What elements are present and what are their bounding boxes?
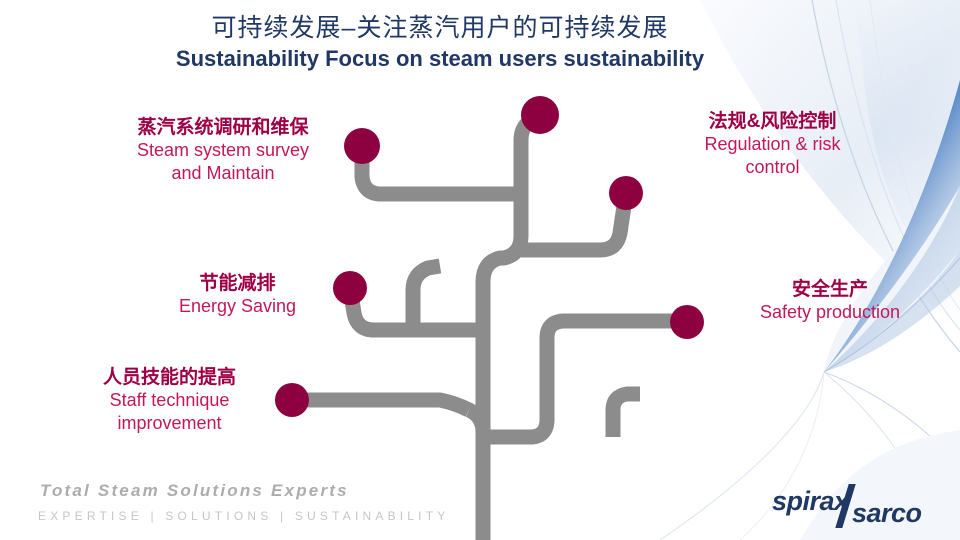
branch-upper-right — [521, 206, 624, 250]
slide-canvas: 可持续发展–关注蒸汽用户的可持续发展 Sustainability Focus … — [0, 0, 960, 540]
label-staff-technique-improvement-cn: 人员技能的提高 — [62, 366, 277, 389]
label-staff-technique-improvement: 人员技能的提高 Staff technique improvement — [62, 366, 277, 435]
label-regulation-risk-control-cn: 法规&风险控制 — [665, 110, 880, 133]
logo-word-spirax: spirax — [772, 486, 849, 517]
spirax-sarco-logo: spirax sarco — [770, 486, 950, 530]
label-safety-production-cn: 安全生产 — [730, 278, 930, 301]
branch-safety-production — [483, 321, 675, 437]
footer-tagline: Total Steam Solutions Experts — [40, 481, 349, 501]
label-regulation-risk-control-en-line2: control — [665, 157, 880, 179]
node-dot-steam-survey[interactable] — [344, 128, 380, 164]
branch-steam-survey — [362, 158, 521, 194]
footer-pillars: EXPERTISE | SOLUTIONS | SUSTAINABILITY — [38, 509, 449, 523]
node-dot-safety-production[interactable] — [670, 305, 704, 339]
node-dot-staff-technique[interactable] — [275, 383, 309, 417]
label-regulation-risk-control-en-line1: Regulation & risk — [665, 134, 880, 156]
branch-staff-technique — [304, 400, 469, 410]
node-dot-energy-saving[interactable] — [333, 271, 367, 305]
label-steam-system-survey-en-line1: Steam system survey — [108, 140, 338, 162]
logo-word-sarco: sarco — [852, 498, 922, 529]
label-energy-saving-cn: 节能减排 — [140, 272, 335, 295]
node-dot-upper-right[interactable] — [609, 176, 643, 210]
label-staff-technique-improvement-en-line2: improvement — [62, 413, 277, 435]
branch-stub-upper-left — [413, 266, 440, 330]
node-dot-regulation-risk[interactable] — [521, 96, 559, 134]
label-steam-system-survey: 蒸汽系统调研和维保 Steam system survey and Mainta… — [108, 116, 338, 185]
label-steam-system-survey-en-line2: and Maintain — [108, 163, 338, 185]
label-safety-production-en-line1: Safety production — [730, 302, 930, 324]
label-energy-saving-en-line1: Energy Saving — [140, 296, 335, 318]
label-safety-production: 安全生产 Safety production — [730, 278, 930, 324]
label-steam-system-survey-cn: 蒸汽系统调研和维保 — [108, 116, 338, 139]
logo-wordmark: spirax sarco — [770, 486, 950, 530]
branch-stub-lower-right — [613, 394, 640, 437]
label-staff-technique-improvement-en-line1: Staff technique — [62, 390, 277, 412]
tree-diagram — [0, 0, 960, 540]
label-regulation-risk-control: 法规&风险控制 Regulation & risk control — [665, 110, 880, 179]
label-energy-saving: 节能减排 Energy Saving — [140, 272, 335, 318]
